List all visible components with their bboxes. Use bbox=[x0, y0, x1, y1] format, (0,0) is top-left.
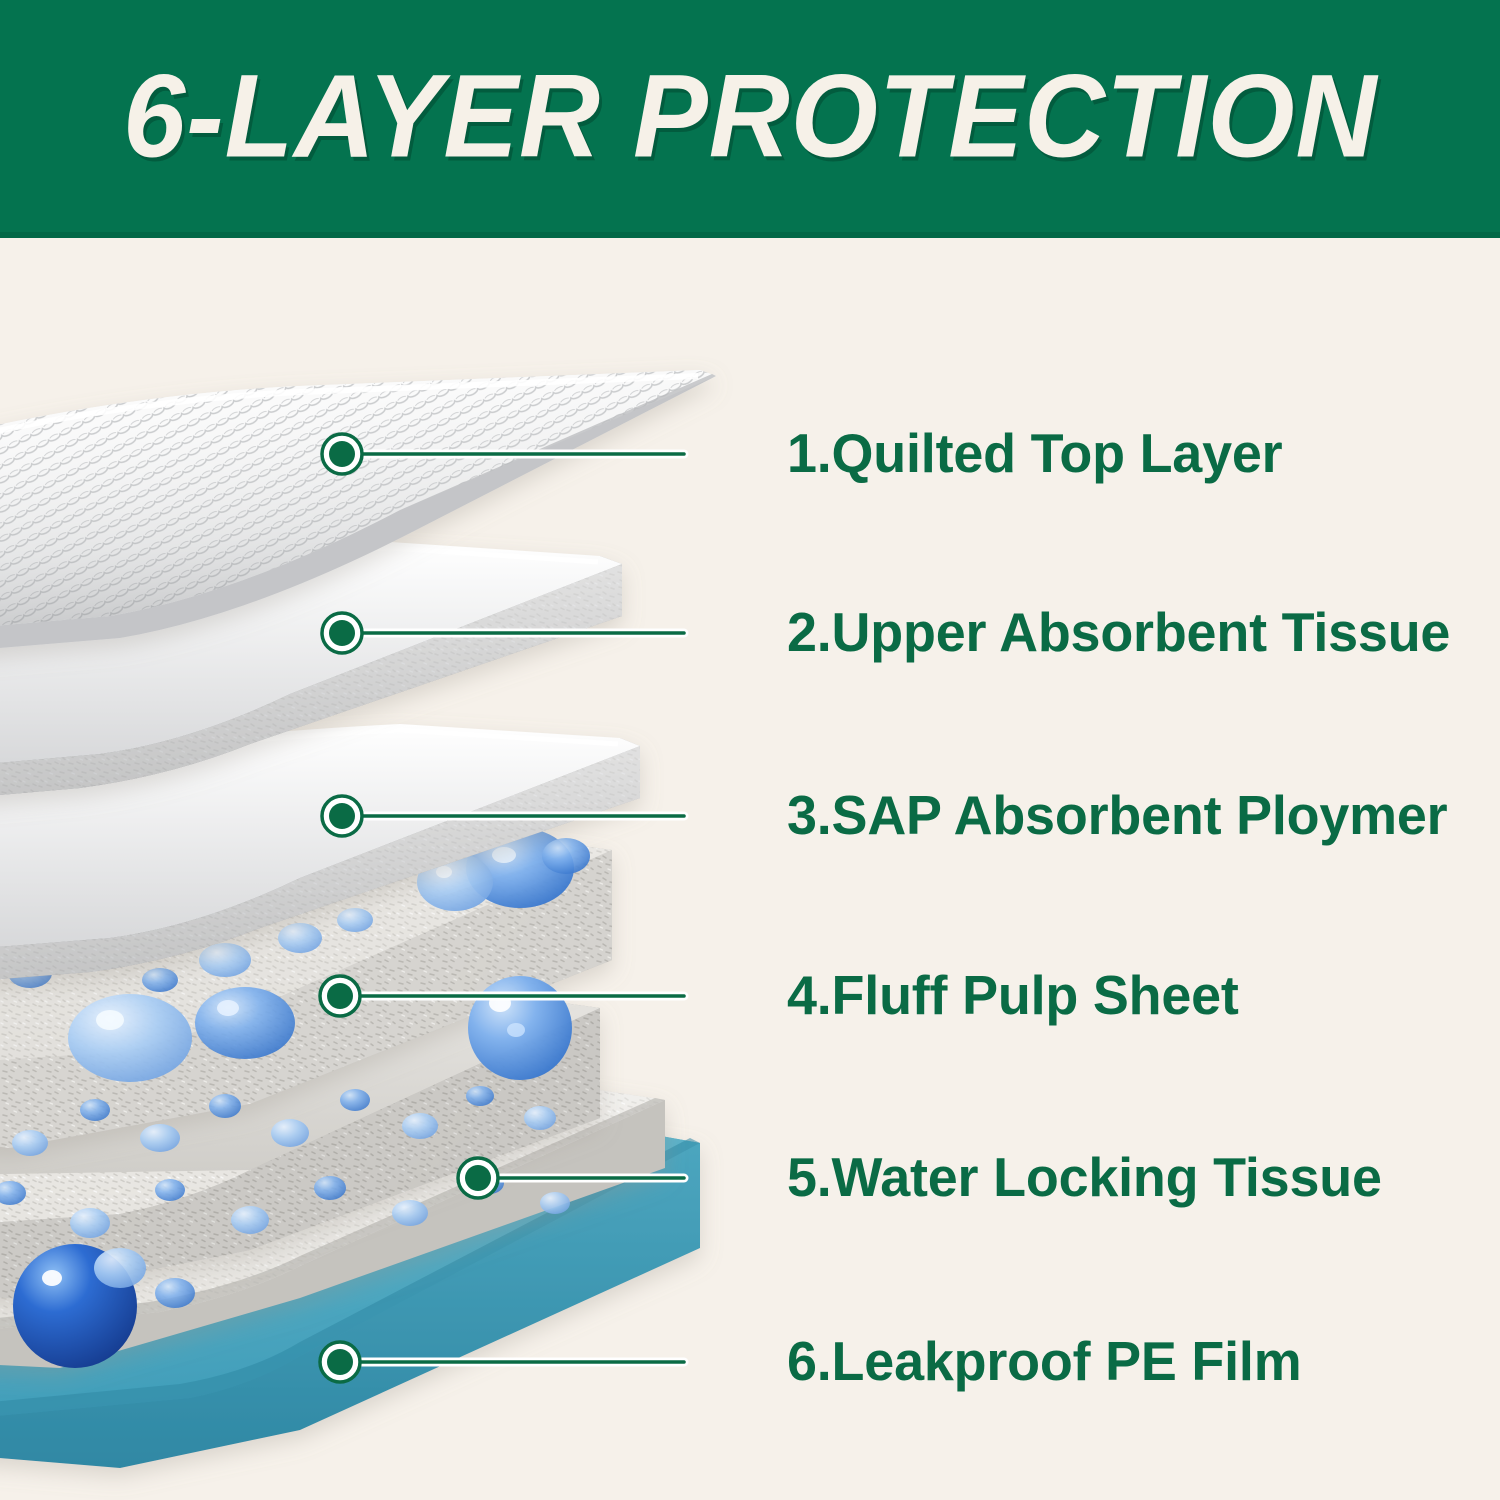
layer-label-2: 2.Upper Absorbent Tissue bbox=[787, 605, 1464, 660]
layer-label-5: 5.Water Locking Tissue bbox=[787, 1150, 1394, 1205]
layer-label-1: 1.Quilted Top Layer bbox=[787, 426, 1293, 481]
layer-label-4: 4.Fluff Pulp Sheet bbox=[787, 968, 1248, 1023]
header-banner: 6-LAYER PROTECTION bbox=[0, 0, 1500, 238]
illustration-stage: 1.Quilted Top Layer 2.Upper Absorbent Ti… bbox=[0, 238, 1500, 1500]
layer-label-6: 6.Leakproof PE Film bbox=[787, 1334, 1312, 1389]
layer-label-3: 3.SAP Absorbent Ploymer bbox=[787, 788, 1461, 843]
page-title-text: 6-LAYER PROTECTION bbox=[123, 58, 1377, 176]
product-layer-infographic: 6-LAYER PROTECTION bbox=[0, 0, 1500, 1500]
page-title: 6-LAYER PROTECTION bbox=[0, 58, 1500, 176]
